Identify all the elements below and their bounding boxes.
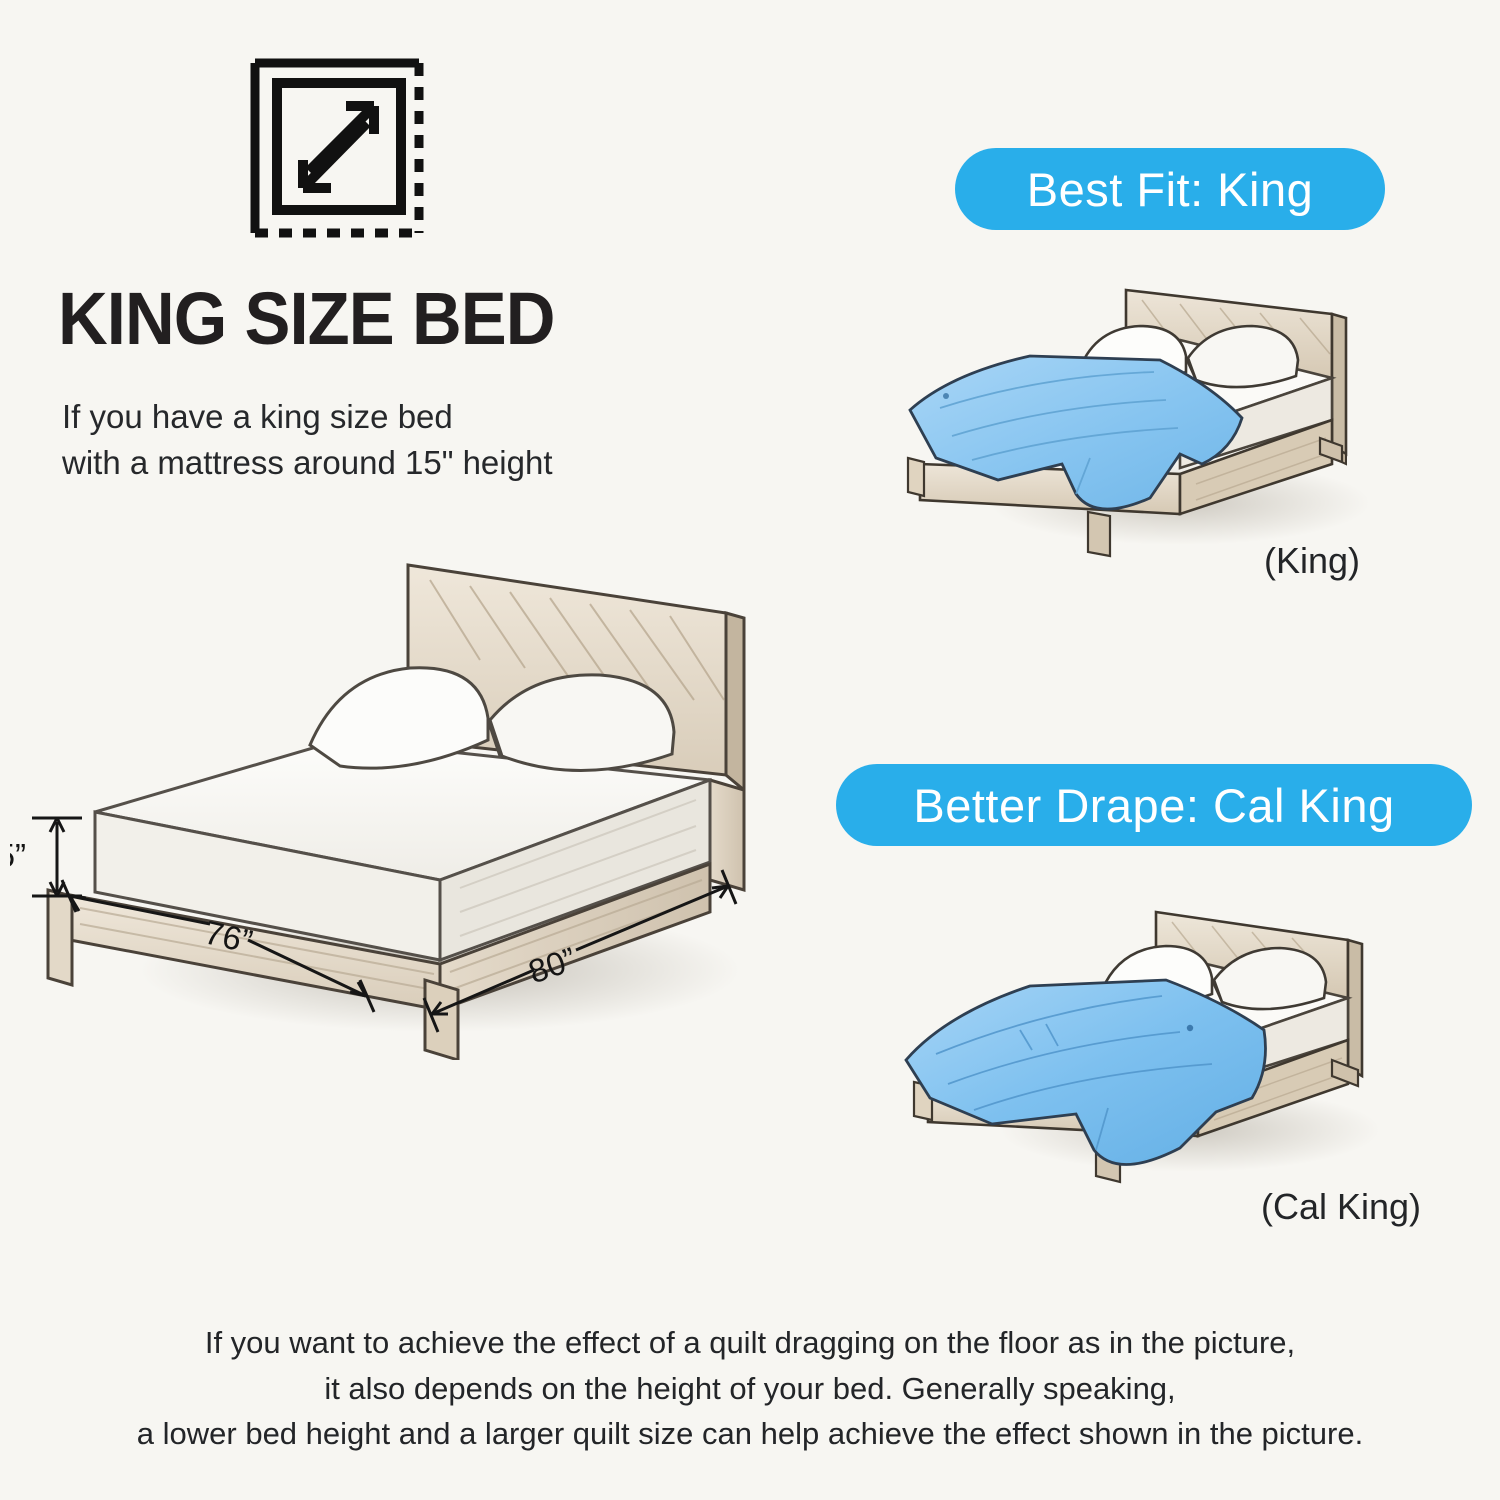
footer-line-3: a lower bed height and a larger quilt si… xyxy=(0,1411,1500,1457)
footer-line-2: it also depends on the height of your be… xyxy=(0,1366,1500,1412)
footer-line-1: If you want to achieve the effect of a q… xyxy=(0,1320,1500,1366)
caption-cal-king: (Cal King) xyxy=(1261,1186,1421,1228)
infographic-root: KING SIZE BED If you have a king size be… xyxy=(0,0,1500,1500)
height-dimension-label: 15” xyxy=(10,837,26,874)
cal-king-bed-with-blue-quilt-illustration xyxy=(880,898,1390,1193)
subtitle-block: If you have a king size bed with a mattr… xyxy=(62,394,553,485)
footer-note: If you want to achieve the effect of a q… xyxy=(0,1320,1500,1457)
bed-post-left xyxy=(48,890,72,985)
badge-best-fit-king[interactable]: Best Fit: King xyxy=(955,148,1385,230)
dimension-height xyxy=(32,818,82,896)
caption-king: (King) xyxy=(1264,540,1360,582)
bed-post-rear-right xyxy=(710,780,744,890)
page-title: KING SIZE BED xyxy=(58,283,554,354)
bed-post-front xyxy=(425,980,458,1060)
subtitle-line-1: If you have a king size bed xyxy=(62,394,553,440)
king-bed-with-blue-quilt-illustration xyxy=(880,268,1390,563)
badge-better-drape-cal-king[interactable]: Better Drape: Cal King xyxy=(836,764,1472,846)
king-bed-dimension-diagram: 15” 76” 80” xyxy=(10,540,800,1060)
size-dimensions-icon xyxy=(243,55,443,240)
subtitle-line-2: with a mattress around 15" height xyxy=(62,440,553,486)
